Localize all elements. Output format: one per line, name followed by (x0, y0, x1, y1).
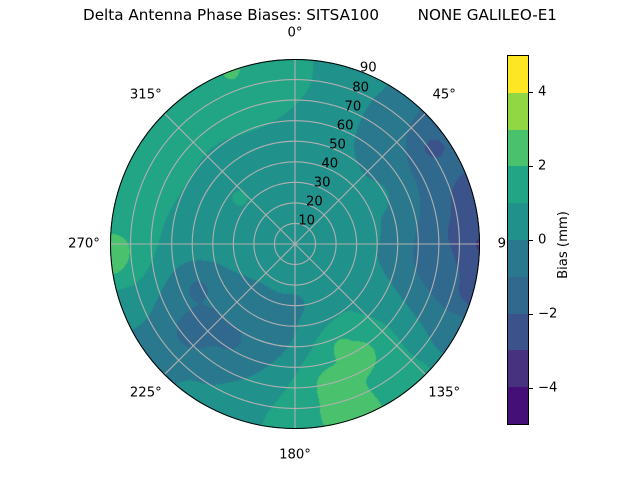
colorbar-tick-mark (529, 166, 533, 167)
colorbar-band (508, 166, 528, 203)
angular-tick-label: 180° (279, 448, 311, 463)
colorbar-tick-label: −4 (538, 381, 557, 396)
colorbar-tick-label: −2 (538, 307, 557, 322)
radial-tick-label: 50 (329, 137, 346, 152)
colorbar-tick-mark (529, 388, 533, 389)
colorbar-tick-mark (529, 240, 533, 241)
radial-tick-label: 40 (321, 156, 338, 171)
radial-tick-label: 30 (314, 175, 331, 190)
figure-canvas: Delta Antenna Phase Biases: SITSA100 NON… (0, 0, 640, 480)
angular-tick-label: 225° (130, 386, 162, 401)
colorbar-band (508, 350, 528, 387)
radial-tick-label: 70 (345, 99, 362, 114)
radial-tick-label: 90 (360, 61, 377, 76)
colorbar[interactable] (507, 55, 529, 425)
angular-tick-label: 45° (433, 87, 456, 102)
angular-tick-label: 270° (68, 237, 100, 252)
angular-tick-label: 315° (130, 87, 162, 102)
polar-axes[interactable] (110, 59, 480, 429)
colorbar-band (508, 387, 528, 424)
page-title: Delta Antenna Phase Biases: SITSA100 NON… (0, 6, 640, 24)
colorbar-band (508, 314, 528, 351)
colorbar-band (508, 93, 528, 130)
colorbar-axis-label: Bias (mm) (556, 211, 571, 279)
colorbar-band (508, 130, 528, 167)
radial-tick-label: 80 (352, 80, 369, 95)
angular-tick-label: 135° (428, 386, 460, 401)
colorbar-tick-mark (529, 314, 533, 315)
colorbar-band (508, 56, 528, 93)
colorbar-band (508, 240, 528, 277)
radial-tick-label: 60 (337, 118, 354, 133)
colorbar-band (508, 203, 528, 240)
colorbar-band (508, 277, 528, 314)
colorbar-tick-label: 0 (538, 233, 546, 248)
polar-grid (110, 59, 480, 429)
radial-tick-label: 10 (298, 213, 315, 228)
angular-tick-label: 0° (288, 26, 303, 41)
colorbar-tick-label: 2 (538, 159, 546, 174)
colorbar-tick-mark (529, 92, 533, 93)
radial-tick-label: 20 (306, 194, 323, 209)
colorbar-tick-label: 4 (538, 85, 546, 100)
